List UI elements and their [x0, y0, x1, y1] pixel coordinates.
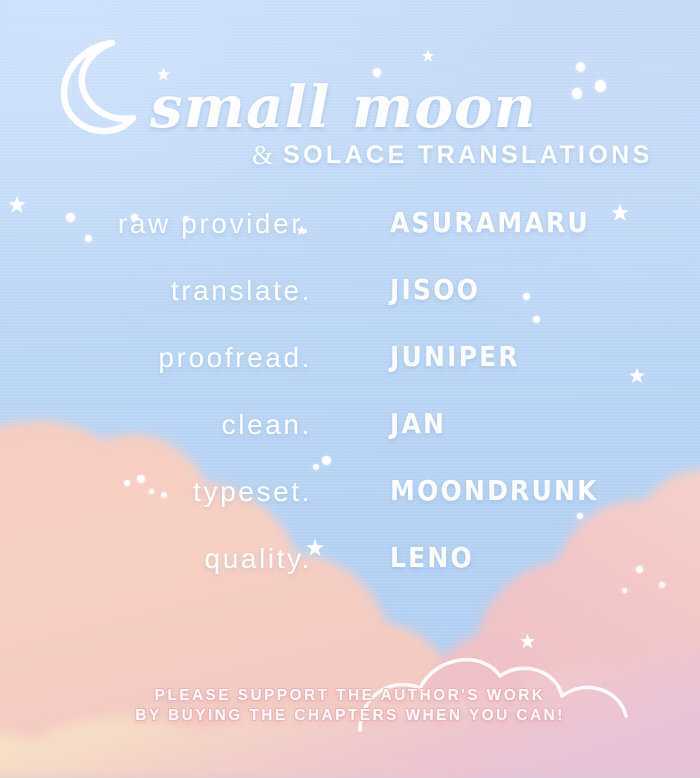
support-notice-line-1: PLEASE SUPPORT THE AUTHOR'S WORK	[0, 686, 700, 706]
credit-row: proofread. JUNIPER	[0, 342, 700, 409]
credit-name: ASURAMARU	[390, 207, 590, 239]
credit-name: MOONDRUNK	[390, 475, 599, 507]
credits-list: raw provider. ASURAMARU translate. JISOO…	[0, 208, 700, 610]
credit-role: raw provider.	[0, 208, 312, 240]
brand-subtitle: &SOLACE TRANSLATIONS	[252, 140, 653, 171]
star-icon	[518, 632, 537, 651]
brand-title: small moon	[150, 78, 480, 136]
support-notice: PLEASE SUPPORT THE AUTHOR'S WORK BY BUYI…	[0, 686, 700, 726]
credit-role: proofread.	[0, 342, 312, 374]
credit-name: JISOO	[390, 274, 480, 306]
ampersand: &	[252, 140, 273, 171]
credit-role: translate.	[0, 275, 312, 307]
credit-row: quality. LENO	[0, 543, 700, 610]
credit-role: quality.	[0, 543, 312, 575]
decor-dot	[576, 62, 585, 72]
credit-row: typeset. MOONDRUNK	[0, 476, 700, 543]
credit-row: clean. JAN	[0, 409, 700, 476]
credit-name: JAN	[390, 408, 446, 440]
crescent-moon-icon	[50, 36, 142, 136]
credits-page: small moon &SOLACE TRANSLATIONS raw prov…	[0, 0, 700, 778]
decor-dot	[572, 88, 582, 99]
credit-role: clean.	[0, 409, 312, 441]
credit-row: raw provider. ASURAMARU	[0, 208, 700, 275]
subtitle-text: SOLACE TRANSLATIONS	[283, 141, 653, 169]
decor-dot	[595, 80, 606, 92]
credit-role: typeset.	[0, 476, 312, 508]
credit-name: JUNIPER	[390, 341, 520, 373]
support-notice-line-2: BY BUYING THE CHAPTERS WHEN YOU CAN!	[0, 706, 700, 726]
credit-row: translate. JISOO	[0, 275, 700, 342]
credit-name: LENO	[390, 542, 474, 574]
star-icon	[420, 48, 436, 64]
